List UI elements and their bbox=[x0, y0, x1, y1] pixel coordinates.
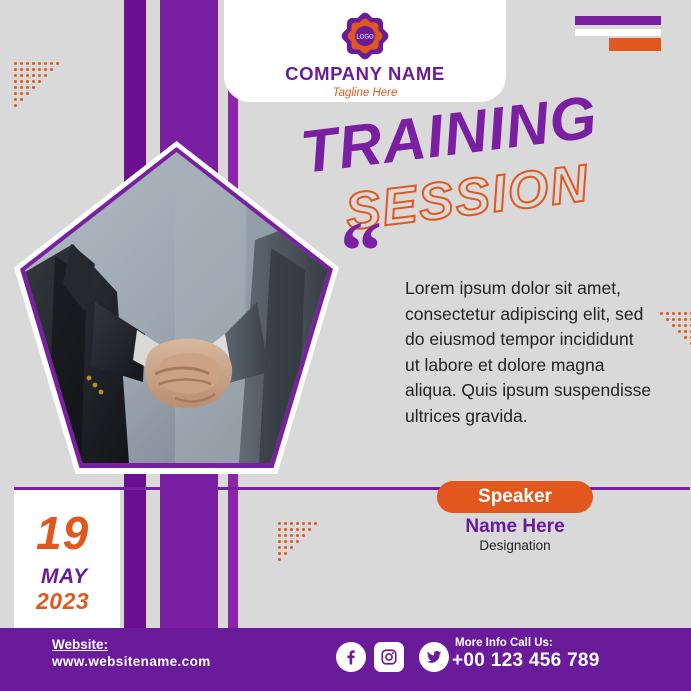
company-name: COMPANY NAME bbox=[285, 63, 445, 85]
facebook-icon[interactable] bbox=[336, 642, 366, 672]
logo: LOGO bbox=[338, 9, 392, 63]
date-day: 19 bbox=[36, 506, 89, 560]
facebook-glyph bbox=[342, 648, 360, 666]
footer-bar: Website: www.websitename.com More Info C… bbox=[0, 628, 691, 691]
tagline: Tagline Here bbox=[333, 87, 398, 99]
corner-mark-purple bbox=[575, 16, 661, 25]
speaker-name: Name Here bbox=[397, 516, 633, 538]
twitter-glyph bbox=[425, 648, 443, 666]
pentagon-photo-frame bbox=[14, 141, 339, 474]
twitter-icon[interactable] bbox=[419, 642, 449, 672]
date-year: 2023 bbox=[36, 588, 89, 615]
call-label: More Info Call Us: bbox=[455, 637, 553, 649]
phone-number[interactable]: +00 123 456 789 bbox=[452, 650, 600, 672]
corner-mark-white bbox=[575, 29, 661, 36]
instagram-glyph bbox=[380, 648, 398, 666]
quote-mark-icon: “ bbox=[340, 224, 382, 280]
handshake-photo bbox=[25, 152, 328, 463]
poster-canvas: LOGO COMPANY NAME Tagline Here bbox=[0, 0, 691, 691]
logo-icon: LOGO bbox=[338, 9, 392, 63]
website-label: Website: bbox=[52, 637, 108, 652]
handshake-photo-illustration bbox=[25, 152, 328, 463]
logo-text: LOGO bbox=[356, 35, 374, 41]
dot-triangle-right bbox=[660, 312, 690, 348]
instagram-icon[interactable] bbox=[374, 642, 404, 672]
header-card: LOGO COMPANY NAME Tagline Here bbox=[224, 0, 506, 102]
dot-triangle-bottom bbox=[278, 522, 314, 564]
speaker-badge: Speaker bbox=[437, 481, 593, 513]
date-month: MAY bbox=[41, 565, 88, 589]
body-paragraph: Lorem ipsum dolor sit amet, consectetur … bbox=[405, 276, 653, 429]
speaker-designation: Designation bbox=[397, 538, 633, 553]
website-url[interactable]: www.websitename.com bbox=[52, 654, 211, 669]
dot-triangle-top-left bbox=[14, 62, 60, 114]
corner-mark-orange bbox=[609, 38, 661, 51]
